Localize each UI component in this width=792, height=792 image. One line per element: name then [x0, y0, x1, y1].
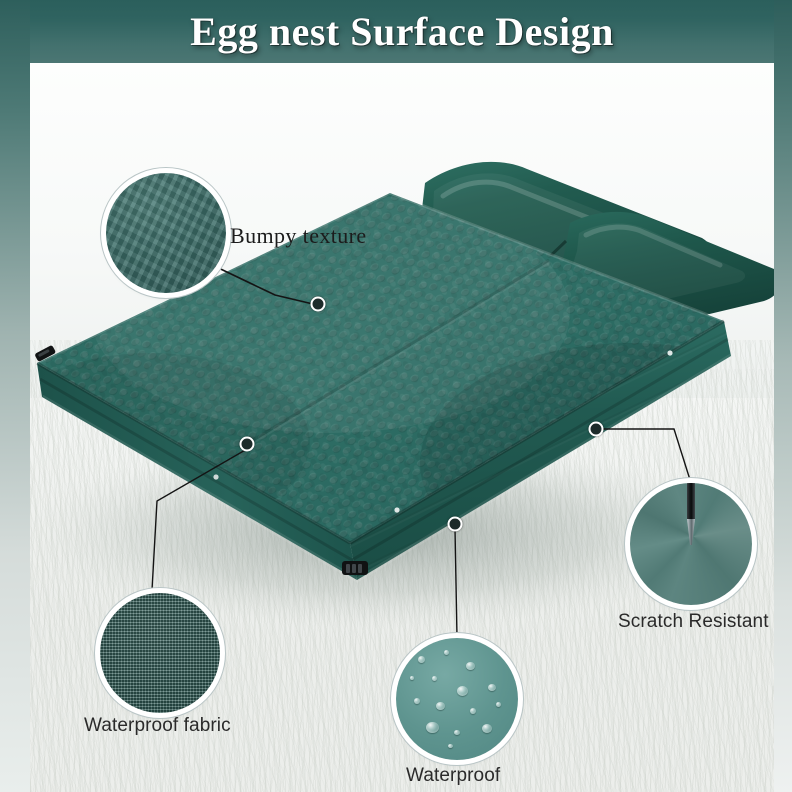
callout-label-scratch-resistant: Scratch Resistant	[618, 611, 769, 633]
frame-strip-left	[0, 0, 30, 792]
product-photo: Bumpy texture Waterproof fabric	[30, 63, 774, 792]
blade-tip	[687, 519, 695, 545]
frame-strip-right	[774, 0, 792, 792]
water-drop	[432, 676, 437, 681]
water-drop	[418, 656, 425, 663]
woven-mesh-swatch	[100, 593, 220, 713]
water-drop	[454, 730, 460, 735]
water-drop	[436, 702, 445, 710]
anchor-ring-waterproof-fabric	[240, 437, 255, 452]
water-drop	[414, 698, 420, 704]
water-drop	[444, 650, 449, 655]
water-drop	[496, 702, 501, 707]
blade-shaft	[687, 483, 695, 521]
knife-blade-icon	[686, 483, 696, 543]
anchor-ring-scratch-resistant	[589, 422, 604, 437]
air-valve-bottom	[342, 561, 368, 575]
water-drop	[482, 724, 492, 733]
callout-circle-scratch-resistant	[630, 483, 752, 605]
anchor-ring-bumpy-texture	[311, 297, 326, 312]
water-drop	[457, 686, 468, 696]
water-drop	[466, 662, 475, 670]
water-drop	[410, 676, 414, 680]
water-drop	[448, 744, 453, 748]
callout-label-waterproof: Waterproof	[406, 765, 500, 787]
blade-scratch-swatch	[630, 483, 752, 605]
callout-label-bumpy-texture: Bumpy texture	[230, 223, 367, 249]
infographic-canvas: Bumpy texture Waterproof fabric	[0, 0, 792, 792]
water-droplets-swatch	[396, 638, 518, 760]
water-drop	[488, 684, 496, 691]
anchor-ring-waterproof	[448, 517, 463, 532]
water-drop	[426, 722, 439, 733]
callout-circle-waterproof	[396, 638, 518, 760]
water-drop	[470, 708, 476, 714]
callout-circle-waterproof-fabric	[100, 593, 220, 713]
bumpy-texture-swatch	[106, 173, 226, 293]
header-banner: Egg nest Surface Design	[30, 0, 774, 63]
page-title: Egg nest Surface Design	[30, 0, 774, 63]
callout-circle-bumpy-texture	[106, 173, 226, 293]
callout-label-waterproof-fabric: Waterproof fabric	[84, 715, 231, 737]
